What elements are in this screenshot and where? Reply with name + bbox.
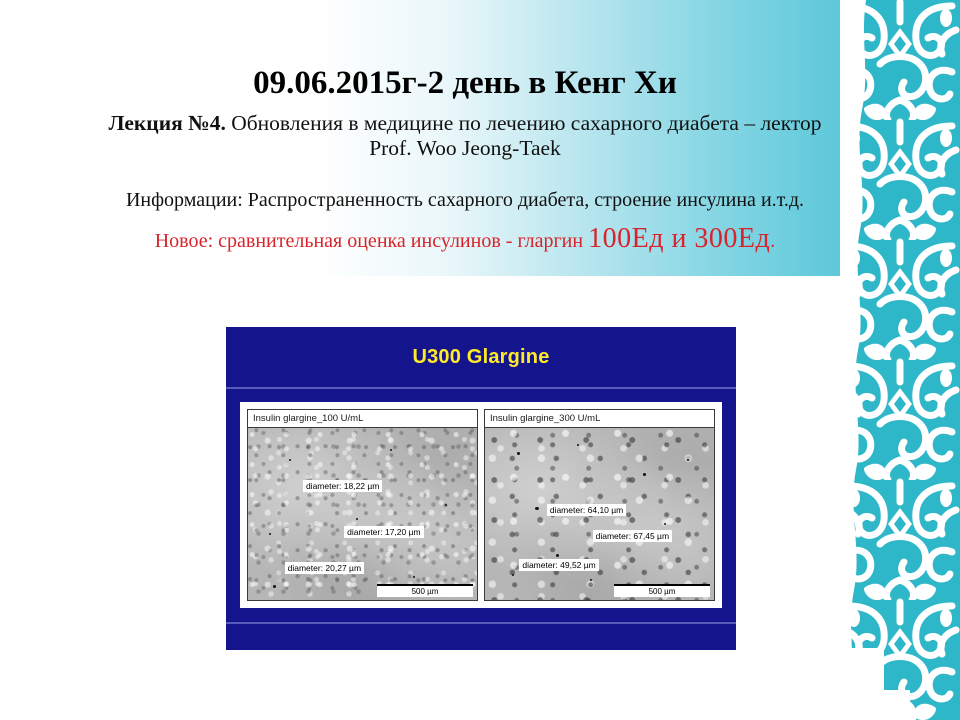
info-line: Информации: Распространенность сахарного…	[0, 161, 930, 212]
measurement-label: diameter: 67,45 µm	[593, 530, 672, 542]
particle-speck	[556, 554, 559, 557]
measurement-label: diameter: 20,27 µm	[285, 562, 364, 574]
slide-text-block: 09.06.2015г-2 день в Кенг Хи Лекция №4. …	[0, 0, 930, 256]
micrograph-caption: Insulin glargine_300 U/mL	[485, 410, 714, 428]
highlight-dose: 100Ед и 300Ед	[588, 223, 770, 254]
figure-footer	[226, 622, 736, 650]
micrograph-caption: Insulin glargine_100 U/mL	[248, 410, 477, 428]
slide-canvas: 09.06.2015г-2 день в Кенг Хи Лекция №4. …	[0, 0, 960, 720]
scale-bar: 500 µm	[614, 584, 710, 597]
measurement-label: diameter: 18,22 µm	[303, 480, 382, 492]
particle-speck	[356, 518, 358, 520]
micrograph-panel-100: Insulin glargine_100 U/mL diameter: 18,2…	[247, 409, 478, 601]
highlight-line: Новое: сравнительная оценка инсулинов - …	[0, 212, 930, 255]
micrograph-image-100: diameter: 18,22 µm diameter: 17,20 µm di…	[248, 428, 477, 600]
figure-header: U300 Glargine	[226, 327, 736, 389]
highlight-prefix: Новое: сравнительная оценка инсулинов - …	[155, 230, 588, 252]
lecture-topic: Обновления в медицине по лечению сахарно…	[226, 111, 822, 135]
micrograph-panel-300: Insulin glargine_300 U/mL diameter: 64,1…	[484, 409, 715, 601]
measurement-label: diameter: 17,20 µm	[344, 526, 423, 538]
highlight-suffix: .	[770, 230, 775, 252]
embedded-figure: U300 Glargine Insulin glargine_100 U/mL	[226, 327, 736, 650]
page-title: 09.06.2015г-2 день в Кенг Хи	[0, 0, 930, 102]
micrograph-image-300: diameter: 64,10 µm diameter: 67,45 µm di…	[485, 428, 714, 600]
figure-body: Insulin glargine_100 U/mL diameter: 18,2…	[240, 402, 722, 608]
particle-speck	[664, 523, 666, 525]
particle-speck	[577, 444, 579, 446]
particle-speck	[413, 576, 415, 578]
particle-speck	[273, 585, 276, 588]
scale-bar: 500 µm	[377, 584, 473, 597]
lecture-subtitle: Лекция №4. Обновления в медицине по лече…	[0, 102, 930, 162]
particle-speck	[269, 533, 271, 535]
figure-title: U300 Glargine	[412, 346, 549, 369]
particle-speck	[643, 473, 646, 476]
particle-speck	[390, 449, 392, 451]
lecturer-name: Prof. Woo Jeong-Taek	[369, 136, 561, 160]
measurement-label: diameter: 64,10 µm	[547, 504, 626, 516]
particle-speck	[687, 459, 689, 461]
measurement-label: diameter: 49,52 µm	[519, 559, 598, 571]
particle-speck	[445, 504, 447, 506]
lecture-number: Лекция №4.	[109, 111, 226, 135]
